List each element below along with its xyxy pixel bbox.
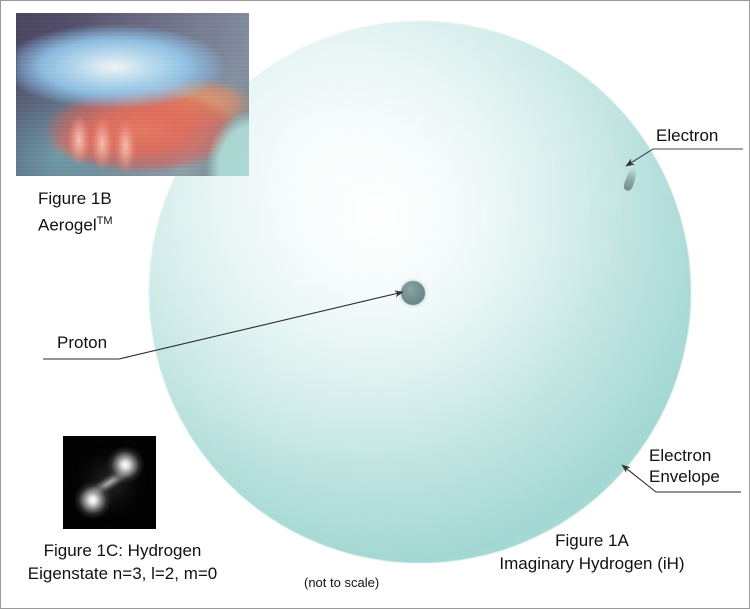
aerogel-photo-grain bbox=[16, 13, 249, 176]
figure-1c-caption-line2: Eigenstate n=3, l=2, m=0 bbox=[15, 562, 230, 585]
electron-envelope-label-line1: Electron bbox=[649, 445, 720, 466]
hydrogen-eigenstate-image bbox=[63, 436, 156, 529]
proton-label: Proton bbox=[57, 332, 107, 353]
proton-dot bbox=[401, 281, 425, 305]
figure-1c-caption-line1: Figure 1C: Hydrogen bbox=[15, 539, 230, 562]
figure-1b-caption-line2: AerogelTM bbox=[38, 210, 113, 237]
figure-1a-caption: Figure 1A Imaginary Hydrogen (iH) bbox=[467, 529, 717, 575]
figure-1b-caption: Figure 1B AerogelTM bbox=[38, 187, 113, 237]
figure-1a-caption-line2: Imaginary Hydrogen (iH) bbox=[467, 552, 717, 575]
aerogel-photo bbox=[16, 13, 249, 176]
orbital-lobes bbox=[63, 436, 156, 529]
electron-envelope-label-line2: Envelope bbox=[649, 466, 720, 487]
figure-1c-caption: Figure 1C: Hydrogen Eigenstate n=3, l=2,… bbox=[15, 539, 230, 585]
figure-1b-caption-line1: Figure 1B bbox=[38, 187, 113, 210]
electron-label: Electron bbox=[656, 125, 718, 146]
not-to-scale-note: (not to scale) bbox=[304, 572, 379, 593]
electron-envelope-label: Electron Envelope bbox=[649, 445, 720, 487]
hydrogen-figure-panel: Electron Electron Envelope Proton (not t… bbox=[0, 0, 750, 609]
trademark-superscript: TM bbox=[97, 215, 113, 227]
figure-1a-caption-line1: Figure 1A bbox=[467, 529, 717, 552]
figure-1b-caption-line2-text: Aerogel bbox=[38, 216, 97, 235]
